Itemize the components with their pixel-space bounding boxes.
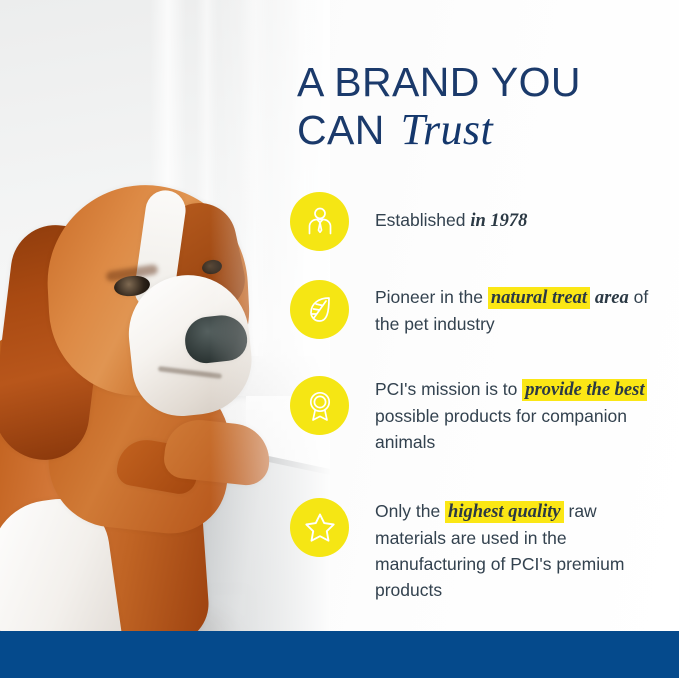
text-segment: Only the [375,501,445,521]
infographic-canvas: A BRAND YOU CAN Trust Established in 197… [0,0,679,678]
text-segment-emphasis: area [595,288,629,308]
headline-line-2: CAN Trust [297,106,667,154]
headline: A BRAND YOU CAN Trust [297,58,667,154]
star-icon [290,498,349,557]
dog-photo [0,0,330,631]
list-item: Established in 1978 [290,192,527,251]
text-segment-emphasis: in 1978 [470,211,527,231]
text-segment: possible products for companion animals [375,406,627,452]
list-item: Only the highest quality raw materials a… [290,498,655,603]
headline-line-1: A BRAND YOU [297,58,667,106]
businessman-icon [290,192,349,251]
text-segment-highlight: provide the best [522,379,647,401]
list-item-text: PCI's mission is to provide the best pos… [375,376,655,455]
leaf-icon [290,280,349,339]
headline-emphasis-trust: Trust [397,105,498,154]
text-segment: PCI's mission is to [375,379,522,399]
list-item-text: Established in 1978 [375,192,527,234]
list-item-text: Only the highest quality raw materials a… [375,498,655,603]
text-segment: Established [375,210,470,230]
award-ribbon-icon [290,376,349,435]
bottom-blue-band [0,631,679,678]
text-segment-highlight: natural treat [488,287,590,309]
headline-line-2-prefix: CAN [297,107,397,153]
list-item: PCI's mission is to provide the best pos… [290,376,655,455]
text-segment-highlight: highest quality [445,501,564,523]
text-segment: Pioneer in the [375,287,488,307]
list-item: Pioneer in the natural treat area of the… [290,280,655,339]
list-item-text: Pioneer in the natural treat area of the… [375,280,655,337]
